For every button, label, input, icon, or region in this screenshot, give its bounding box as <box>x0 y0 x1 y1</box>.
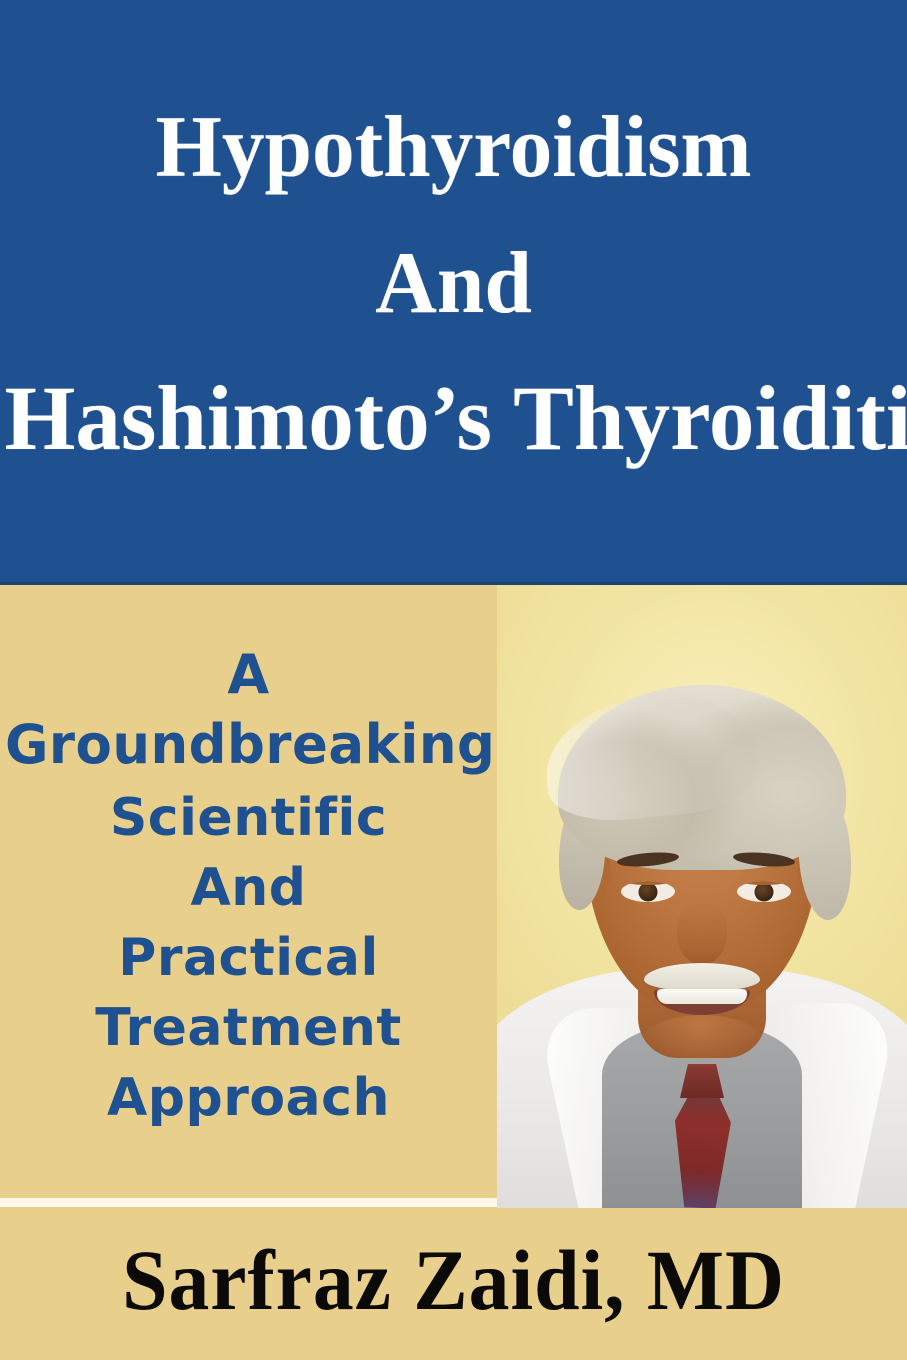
author-portrait-photo <box>497 585 907 1208</box>
author-name: Sarfraz Zaidi, MD <box>23 1237 885 1323</box>
eyelid-left <box>621 881 675 885</box>
subtitle-line-5: Practical <box>0 932 497 984</box>
subtitle-line-2: Groundbreaking, <box>5 718 492 772</box>
book-cover: Hypothyroidism And Hashimoto’s Thyroidit… <box>0 0 907 1360</box>
chin <box>642 1015 762 1067</box>
title-line-hypothyroidism: Hypothyroidism <box>14 104 894 192</box>
eye-left <box>621 881 675 902</box>
subtitle-line-7: Approach <box>0 1072 497 1124</box>
nose <box>677 903 727 965</box>
subtitle-line-3: Scientific <box>0 792 497 844</box>
title-line-hashimotos-thyroiditis: Hashimoto’s Thyroiditis <box>5 372 903 464</box>
subtitle-line-6: Treatment <box>0 1002 497 1054</box>
teeth <box>657 989 747 1004</box>
divider-rule <box>0 1198 497 1207</box>
eye-right <box>737 881 791 902</box>
subtitle-line-4: And <box>0 862 497 914</box>
white-mustache <box>644 963 760 991</box>
subtitle-line-1: A <box>0 648 497 702</box>
title-panel: Hypothyroidism And Hashimoto’s Thyroidit… <box>0 0 907 585</box>
eyelid-right <box>737 881 791 885</box>
title-line-and: And <box>14 240 894 328</box>
subtitle-block: A Groundbreaking, Scientific And Practic… <box>0 648 497 1124</box>
